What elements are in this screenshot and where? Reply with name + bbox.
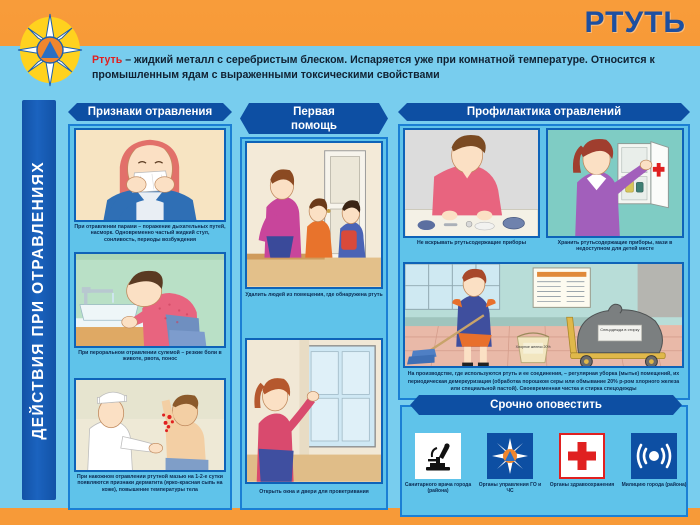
emercom-emblem xyxy=(14,8,86,88)
panel-workplace-cleaning: Хлорное железо 20% Спецодежда в стирку xyxy=(403,262,684,368)
panel-store-out-of-reach xyxy=(546,128,684,238)
page-title: РТУТЬ xyxy=(585,6,687,40)
intro-highlight: Ртуть xyxy=(92,54,122,66)
first-aid-header-line2: помощь xyxy=(291,119,337,133)
radio-waves-icon xyxy=(631,433,677,479)
side-title-text: ДЕЙСТВИЯ ПРИ ОТРАВЛЕНИЯХ xyxy=(30,161,48,440)
notify-label-sanitary-doctor: Санитарного врача города (района) xyxy=(404,482,472,494)
section-header-prevention: Профилактика отравлений xyxy=(398,103,690,121)
caption-skin-poisoning: При накожном отравлении ртутной мазью на… xyxy=(74,474,226,493)
caption-oral-poisoning: При пероральном отравлении сулемой – рез… xyxy=(74,350,226,363)
intro-text: – жидкий металл с серебристым блеском. И… xyxy=(92,54,655,81)
notify-label-civil-defense: Органы управления ГО и ЧС xyxy=(476,482,544,494)
notify-item-police[interactable]: Милицию города (района) xyxy=(620,433,688,488)
notify-icon-row: Санитарного врача города (района) xyxy=(402,433,690,519)
caption-evacuate-people: Удалить людей из помещения, где обнаруже… xyxy=(245,292,383,298)
side-title-bar: ДЕЙСТВИЯ ПРИ ОТРАВЛЕНИЯХ xyxy=(22,100,56,500)
caption-do-not-open-devices: Не вскрывать ртутьсодержащие приборы xyxy=(403,240,540,246)
notify-panel: Срочно оповестить Санитарного врача горо… xyxy=(400,405,688,517)
panel-skin-poisoning xyxy=(74,378,226,472)
intro-paragraph: Ртуть – жидкий металл с серебристым блес… xyxy=(92,53,688,83)
panel-evacuate-people xyxy=(245,141,383,289)
caption-store-out-of-reach: Хранить ртутьсодержащие приборы, мази в … xyxy=(546,240,684,253)
first-aid-header-line1: Первая xyxy=(293,105,335,119)
bucket-label: Хлорное железо 20% xyxy=(516,345,552,349)
panel-do-not-open-devices xyxy=(403,128,540,238)
notify-item-civil-defense[interactable]: Органы управления ГО и ЧС xyxy=(476,433,544,494)
caption-workplace-cleaning: На производстве, где используются ртуть … xyxy=(403,371,684,394)
panel-vapor-poisoning xyxy=(74,128,226,222)
panel-open-windows xyxy=(245,338,383,484)
panel-oral-poisoning xyxy=(74,252,226,348)
section-header-signs: Признаки отравления xyxy=(68,103,232,121)
microscope-icon xyxy=(415,433,461,479)
caption-open-windows: Открыть окна и двери для проветривания xyxy=(245,489,383,495)
section-header-first-aid: Первая помощь xyxy=(240,103,388,134)
notify-item-healthcare[interactable]: Органы здравоохранения xyxy=(548,433,616,488)
section-header-notify: Срочно оповестить xyxy=(410,395,682,415)
caption-vapor-poisoning: При отравлении парами – поражение дыхате… xyxy=(74,224,226,243)
notify-item-sanitary-doctor[interactable]: Санитарного врача города (района) xyxy=(404,433,472,494)
civil-defense-star-icon xyxy=(487,433,533,479)
red-cross-icon xyxy=(559,433,605,479)
laundry-tag-label: Спецодежда в стирку xyxy=(600,327,639,332)
notify-label-healthcare: Органы здравоохранения xyxy=(548,482,616,488)
notify-label-police: Милицию города (района) xyxy=(620,482,688,488)
